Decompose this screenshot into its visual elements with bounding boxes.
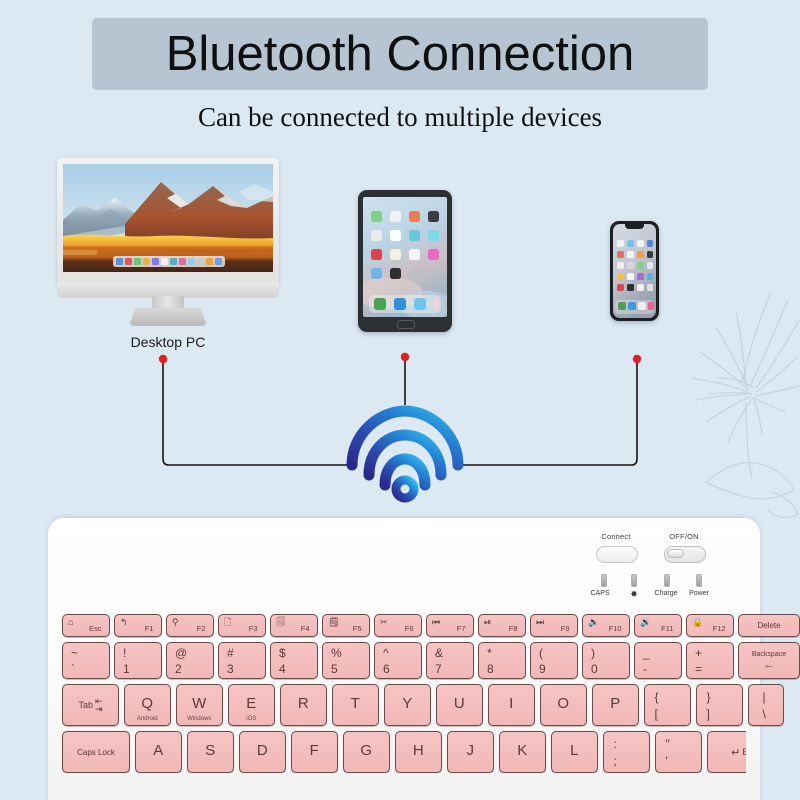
key-f8[interactable]: ⏯F8 (478, 614, 526, 637)
connection-node-phone (633, 355, 641, 363)
key-h[interactable]: H (395, 731, 443, 773)
charge-led-icon (664, 574, 670, 587)
enter-arrow-icon: ↵ (731, 746, 740, 759)
power-switch-label: OFF/ON (656, 532, 712, 541)
key-f7[interactable]: ⏮F7 (426, 614, 474, 637)
key-w[interactable]: WWindows (176, 684, 224, 726)
next-track-icon: ⏭ (536, 618, 544, 627)
key-backtick[interactable]: ~` (62, 642, 110, 679)
key-f3[interactable]: 🗋F3 (218, 614, 266, 637)
bluetooth-led-icon (631, 574, 637, 587)
product-image-canvas: Bluetooth Connection Can be connected to… (0, 0, 800, 800)
key-9[interactable]: (9 (530, 642, 578, 679)
play-pause-icon: ⏯ (484, 618, 491, 627)
charge-indicator-label: Charge (648, 590, 684, 597)
connection-node-desktop (159, 355, 167, 363)
number-row: ~` !1 @2 #3 $4 %5 ^6 &7 *8 (9 )0 _- += B… (62, 642, 746, 679)
volume-up-icon: 🔊 (640, 618, 651, 627)
copy-icon: 🗐 (276, 618, 285, 627)
key-l[interactable]: L (551, 731, 599, 773)
key-delete[interactable]: Delete (738, 614, 800, 637)
connect-button-label: Connect (588, 532, 644, 541)
key-t[interactable]: T (332, 684, 380, 726)
key-semicolon[interactable]: :; (603, 731, 651, 773)
key-k[interactable]: K (499, 731, 547, 773)
home-icon: ⌂ (68, 618, 73, 627)
key-minus[interactable]: _- (634, 642, 682, 679)
key-f6[interactable]: ✂F6 (374, 614, 422, 637)
key-i[interactable]: I (488, 684, 536, 726)
key-bracket-left[interactable]: {[ (644, 684, 692, 726)
key-2[interactable]: @2 (166, 642, 214, 679)
caps-led-icon (601, 574, 607, 587)
tab-arrows-icon: ⇤⇥ (95, 697, 103, 713)
key-f2[interactable]: ⚲F2 (166, 614, 214, 637)
power-indicator-label: Power (681, 590, 717, 597)
key-tab[interactable]: Tab⇤⇥ (62, 684, 119, 726)
key-1[interactable]: !1 (114, 642, 162, 679)
paste-icon: 🗒 (328, 618, 339, 627)
search-icon: ⚲ (172, 618, 179, 627)
bluetooth-indicator-label: ✸ (620, 589, 648, 600)
key-f1[interactable]: ↰F1 (114, 614, 162, 637)
keyboard-control-panel: Connect OFF/ON CAPS ✸ Charge Power (588, 532, 738, 604)
key-5[interactable]: %5 (322, 642, 370, 679)
key-d[interactable]: D (239, 731, 287, 773)
previous-track-icon: ⏮ (432, 618, 440, 627)
key-y[interactable]: Y (384, 684, 432, 726)
key-0[interactable]: )0 (582, 642, 630, 679)
caps-indicator-label: CAPS (584, 590, 616, 597)
key-enter[interactable]: ↵Enter (707, 731, 747, 773)
back-arrow-icon: ↰ (120, 618, 128, 627)
backspace-arrow-icon: ← (764, 659, 775, 671)
phone-notch (625, 224, 644, 229)
bluetooth-keyboard: Connect OFF/ON CAPS ✸ Charge Power ⌂Esc … (48, 518, 760, 800)
key-equals[interactable]: += (686, 642, 734, 679)
wifi-icon (340, 405, 470, 505)
key-u[interactable]: U (436, 684, 484, 726)
key-j[interactable]: J (447, 731, 495, 773)
lock-icon: 🔒 (692, 618, 703, 627)
key-4[interactable]: $4 (270, 642, 318, 679)
key-g[interactable]: G (343, 731, 391, 773)
qwerty-row: Tab⇤⇥ QAndroid WWindows EiOS R T Y U I O… (62, 684, 746, 726)
power-switch[interactable] (664, 546, 706, 563)
key-e[interactable]: EiOS (228, 684, 276, 726)
key-f11[interactable]: 🔊F11 (634, 614, 682, 637)
connection-node-tablet (401, 353, 409, 361)
function-row: ⌂Esc ↰F1 ⚲F2 🗋F3 🗐F4 🗒F5 ✂F6 ⏮F7 ⏯F8 ⏭F9… (62, 614, 746, 637)
key-f10[interactable]: 🔉F10 (582, 614, 630, 637)
key-3[interactable]: #3 (218, 642, 266, 679)
key-caps-lock[interactable]: Caps Lock (62, 731, 130, 773)
key-o[interactable]: O (540, 684, 588, 726)
key-f12[interactable]: 🔒F12 (686, 614, 734, 637)
key-esc[interactable]: ⌂Esc (62, 614, 110, 637)
key-r[interactable]: R (280, 684, 328, 726)
key-backslash[interactable]: |\ (748, 684, 784, 726)
home-row: Caps Lock A S D F G H J K L :; "' ↵Enter (62, 731, 746, 773)
key-p[interactable]: P (592, 684, 640, 726)
key-7[interactable]: &7 (426, 642, 474, 679)
key-q[interactable]: QAndroid (124, 684, 172, 726)
key-8[interactable]: *8 (478, 642, 526, 679)
volume-down-icon: 🔉 (588, 618, 599, 627)
key-backspace[interactable]: Backspace← (738, 642, 800, 679)
key-f5[interactable]: 🗒F5 (322, 614, 370, 637)
keyboard-key-rows: ⌂Esc ↰F1 ⚲F2 🗋F3 🗐F4 🗒F5 ✂F6 ⏮F7 ⏯F8 ⏭F9… (62, 614, 746, 778)
page-icon: 🗋 (224, 618, 231, 627)
key-f[interactable]: F (291, 731, 339, 773)
power-led-icon (696, 574, 702, 587)
cut-scissors-icon: ✂ (380, 618, 388, 627)
connect-button[interactable] (596, 546, 638, 563)
key-6[interactable]: ^6 (374, 642, 422, 679)
key-f9[interactable]: ⏭F9 (530, 614, 578, 637)
key-f4[interactable]: 🗐F4 (270, 614, 318, 637)
key-bracket-right[interactable]: }] (696, 684, 744, 726)
key-s[interactable]: S (187, 731, 235, 773)
key-quote[interactable]: "' (655, 731, 703, 773)
key-a[interactable]: A (135, 731, 183, 773)
